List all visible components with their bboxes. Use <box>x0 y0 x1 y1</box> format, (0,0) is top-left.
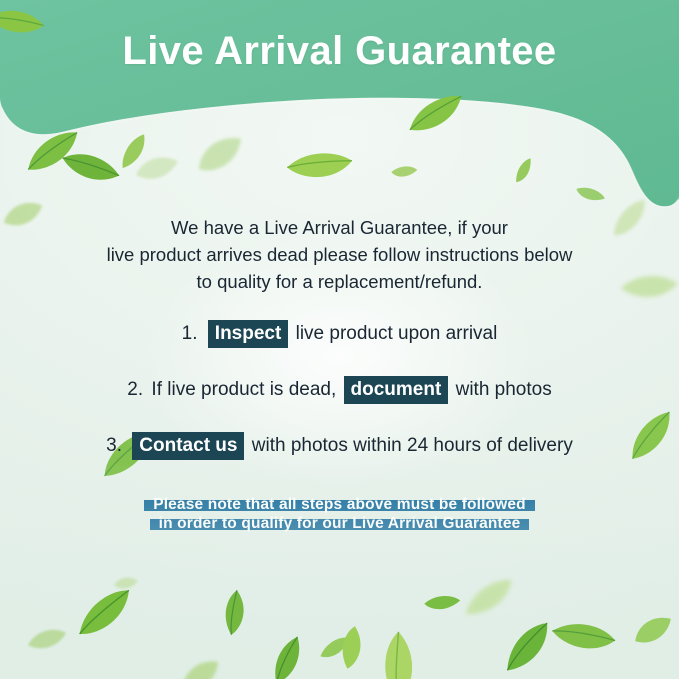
steps-list: 1. Inspect live product upon arrival 2. … <box>30 320 649 488</box>
step-highlight-document: document <box>344 376 449 404</box>
intro-line-2: live product arrives dead please follow … <box>50 241 629 268</box>
step-highlight-contact-us: Contact us <box>132 432 244 460</box>
step-highlight-inspect: Inspect <box>208 320 289 348</box>
notice-row-2: in order to qualify for our Live Arrival… <box>0 519 679 530</box>
step-text-after: with photos within 24 hours of delivery <box>252 435 573 456</box>
notice-line-1: Please note that all steps above must be… <box>144 500 535 511</box>
intro-line-1: We have a Live Arrival Guarantee, if you… <box>50 214 629 241</box>
step-text-after: live product upon arrival <box>296 323 498 344</box>
step-item-2: 2. If live product is dead, document wit… <box>30 376 649 404</box>
step-number: 2. <box>127 379 143 400</box>
step-item-3: 3. Contact us with photos within 24 hour… <box>30 432 649 460</box>
notice-line-2: in order to qualify for our Live Arrival… <box>150 519 530 530</box>
step-number: 1. <box>182 323 198 344</box>
intro-line-3: to quality for a replacement/refund. <box>50 268 629 295</box>
notice-banner: Please note that all steps above must be… <box>0 500 679 530</box>
step-item-1: 1. Inspect live product upon arrival <box>30 320 649 348</box>
notice-row-1: Please note that all steps above must be… <box>0 500 679 511</box>
step-text-after: with photos <box>456 379 552 400</box>
step-number: 3. <box>106 435 122 456</box>
step-text-before: If live product is dead, <box>151 379 336 400</box>
live-arrival-guarantee-poster: Live Arrival Guarantee <box>0 0 679 679</box>
intro-paragraph: We have a Live Arrival Guarantee, if you… <box>50 214 629 295</box>
poster-content: We have a Live Arrival Guarantee, if you… <box>0 0 679 679</box>
